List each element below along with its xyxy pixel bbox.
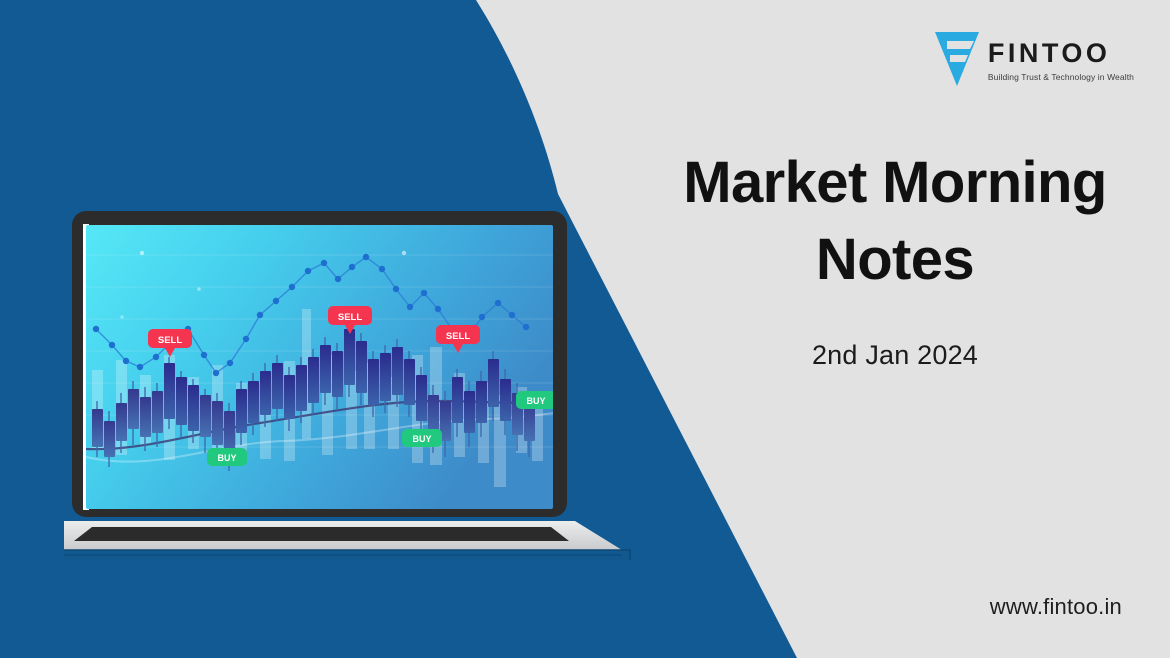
website-url[interactable]: www.fintoo.in — [990, 594, 1122, 620]
laptop-screen: SELL SELL SELL BUY — [86, 225, 556, 509]
buy-badge-label: BUY — [217, 453, 236, 463]
promo-banner: SELL SELL SELL BUY — [0, 0, 1170, 658]
buy-badge-label: BUY — [526, 396, 545, 406]
page-title-line-1: Market Morning — [620, 145, 1170, 222]
sell-badge-label: SELL — [338, 312, 362, 323]
brand-wordmark: FINTOO — [988, 40, 1134, 67]
brand-tagline: Building Trust & Technology in Wealth — [988, 72, 1134, 82]
laptop-illustration: SELL SELL SELL BUY — [64, 205, 664, 560]
sell-badge-label: SELL — [446, 331, 470, 342]
laptop-svg: SELL SELL SELL BUY — [64, 205, 664, 560]
brand-wordblock: FINTOO Building Trust & Technology in We… — [988, 40, 1134, 82]
chart-badge-buy-3: BUY — [516, 391, 556, 409]
sell-badge-label: SELL — [158, 335, 182, 346]
page-title: Market Morning Notes — [620, 145, 1170, 298]
brand-logo: FINTOO Building Trust & Technology in We… — [934, 30, 1134, 90]
publication-date: 2nd Jan 2024 — [620, 340, 1170, 371]
laptop-keyboard — [74, 527, 569, 541]
chart-badge-buy-2: BUY — [402, 429, 442, 447]
fintoo-triangle-f-logo-icon — [934, 30, 980, 90]
buy-badge-label: BUY — [412, 434, 431, 444]
content-column: FINTOO Building Trust & Technology in We… — [620, 0, 1170, 658]
chart-badge-buy-1: BUY — [207, 448, 247, 466]
page-title-line-2: Notes — [620, 222, 1170, 299]
